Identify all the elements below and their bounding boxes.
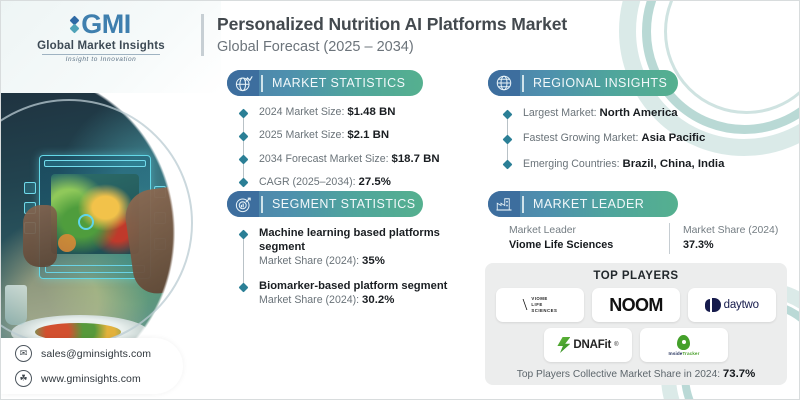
stat-2034-forecast-market-size: 2034 Forecast Market Size: $18.7 BN: [237, 152, 467, 166]
factory-icon: [488, 191, 520, 217]
badge-regional-insights: REGIONAL INSIGHTS: [488, 70, 678, 96]
stat-2024-market-size: 2024 Market Size: $1.48 BN: [237, 105, 467, 119]
viome-mark-icon: \: [523, 296, 528, 313]
logo-company-name: Global Market Insights: [37, 40, 165, 52]
noom-wordmark: NOOM: [609, 295, 663, 316]
badge-market-leader: MARKET LEADER: [488, 191, 678, 217]
globe-chart-icon: [227, 70, 259, 96]
logo-tagline: Insight to Innovation: [66, 56, 137, 63]
player-logo-insidetracker[interactable]: InsideTracker: [640, 328, 728, 362]
top-players-title: TOP PLAYERS: [495, 270, 777, 282]
badge-label: SEGMENT STATISTICS: [272, 197, 416, 211]
top-players-row-2: DNAFit® InsideTracker: [495, 328, 777, 362]
envelope-icon: ✉: [15, 345, 32, 362]
top-players-collective-share: Top Players Collective Market Share in 2…: [495, 368, 777, 380]
contact-email: sales@gminsights.com: [41, 348, 151, 360]
page-title: Personalized Nutrition AI Platforms Mark…: [217, 14, 567, 36]
contact-website: www.gminsights.com: [41, 373, 141, 385]
stat-cagr: CAGR (2025–2034): 27.5%: [237, 175, 467, 189]
gmi-logo: GMI Global Market Insights Insight to In…: [1, 1, 201, 69]
badge-segment-statistics: SEGMENT STATISTICS: [227, 191, 423, 217]
top-players-panel: TOP PLAYERS \ VIOME LIFE SCIENCES NOOM: [485, 263, 787, 385]
market-leader-name-col: Market Leader Viome Life Sciences: [509, 223, 669, 254]
daytwo-wordmark: daytwo: [724, 299, 759, 311]
globe-icon: ☘: [15, 370, 32, 387]
badge-label: MARKET LEADER: [533, 197, 644, 211]
top-players-row-1: \ VIOME LIFE SCIENCES NOOM daytwo: [495, 288, 777, 322]
contact-email-row[interactable]: ✉ sales@gminsights.com: [15, 345, 183, 362]
header: GMI Global Market Insights Insight to In…: [1, 1, 800, 69]
target-chart-icon: [227, 191, 259, 217]
badge-label: MARKET STATISTICS: [272, 76, 405, 90]
list-segment-statistics: Machine learning based platforms segment…: [237, 226, 467, 308]
insidetracker-word-a: Inside: [669, 351, 683, 356]
dnafit-mark-icon: [557, 337, 570, 353]
viome-line-3: SCIENCES: [531, 308, 557, 314]
market-leader-share-col: Market Share (2024) 37.3%: [669, 223, 778, 254]
segment-biomarker-based: Biomarker-based platform segment Market …: [237, 279, 467, 307]
player-logo-dnafit[interactable]: DNAFit®: [544, 328, 632, 362]
logo-gmi-text: GMI: [81, 11, 131, 38]
player-logo-viome[interactable]: \ VIOME LIFE SCIENCES: [496, 288, 584, 322]
title-block: Personalized Nutrition AI Platforms Mark…: [201, 14, 567, 57]
contact-block: ✉ sales@gminsights.com ☘ www.gminsights.…: [1, 338, 183, 394]
segment-machine-learning: Machine learning based platforms segment…: [237, 226, 467, 268]
badge-label: REGIONAL INSIGHTS: [533, 76, 667, 90]
market-leader-value: Viome Life Sciences: [509, 238, 669, 254]
dnafit-wordmark: DNAFit: [573, 339, 611, 351]
badge-market-statistics: MARKET STATISTICS: [227, 70, 423, 96]
market-share-label: Market Share (2024): [683, 223, 778, 238]
stat-2025-market-size: 2025 Market Size: $2.1 BN: [237, 128, 467, 142]
market-leader-label: Market Leader: [509, 223, 669, 238]
player-logo-noom[interactable]: NOOM: [592, 288, 680, 322]
region-emerging-countries: Emerging Countries: Brazil, China, India: [501, 157, 781, 171]
contact-website-row[interactable]: ☘ www.gminsights.com: [15, 370, 183, 387]
list-regional-insights: Largest Market: North America Fastest Gr…: [501, 106, 781, 171]
list-market-statistics: 2024 Market Size: $1.48 BN 2025 Market S…: [237, 105, 467, 189]
page-subtitle: Global Forecast (2025 – 2034): [217, 38, 567, 57]
region-largest-market: Largest Market: North America: [501, 106, 781, 120]
infographic-root: GMI Global Market Insights Insight to In…: [0, 0, 800, 400]
hero-photo: [1, 93, 206, 361]
diamond-icon: [71, 17, 78, 32]
insidetracker-drop-icon: [677, 335, 690, 350]
daytwo-mark-icon: [705, 298, 721, 312]
region-fastest-growing-market: Fastest Growing Market: Asia Pacific: [501, 131, 781, 145]
market-leader-details: Market Leader Viome Life Sciences Market…: [509, 223, 779, 254]
logo-divider: [42, 54, 160, 55]
globe-icon: [488, 70, 520, 96]
player-logo-daytwo[interactable]: daytwo: [688, 288, 776, 322]
market-share-value: 37.3%: [683, 238, 778, 254]
insidetracker-word-b: Tracker: [682, 351, 699, 356]
logo-mark: GMI: [71, 11, 131, 38]
